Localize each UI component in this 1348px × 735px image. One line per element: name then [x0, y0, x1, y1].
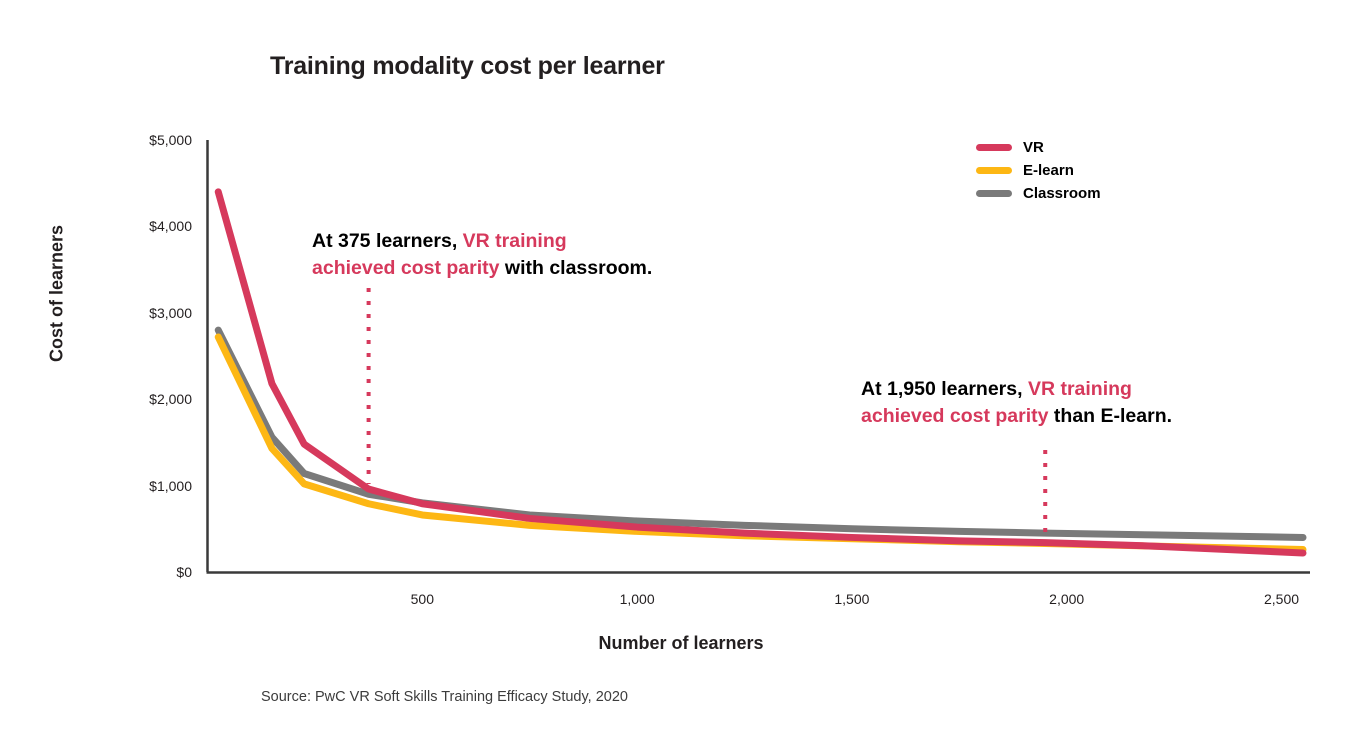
annotation-parity-classroom-line2: achieved cost parity with classroom.	[312, 255, 652, 282]
annotation-parity-elearn-line2: achieved cost parity than E-learn.	[861, 403, 1172, 430]
legend-item-elearn[interactable]: E-learn	[976, 159, 1101, 182]
legend-label-elearn: E-learn	[1023, 162, 1074, 179]
legend-item-vr[interactable]: VR	[976, 136, 1101, 159]
legend-swatch-vr	[976, 144, 1012, 151]
legend-swatch-classroom	[976, 190, 1012, 197]
x-tick-label: 2,500	[1264, 591, 1299, 607]
y-tick-label: $3,000	[120, 305, 192, 321]
annotation-1-highlight2: achieved cost parity	[312, 257, 500, 279]
y-tick-label: $5,000	[120, 132, 192, 148]
annotation-2-highlight: VR training	[1028, 378, 1132, 400]
x-tick-label: 500	[411, 591, 434, 607]
plot-area	[0, 0, 1348, 735]
legend-label-vr: VR	[1023, 139, 1044, 156]
annotation-2-tail: than E-learn.	[1049, 405, 1173, 427]
x-tick-label: 1,500	[834, 591, 869, 607]
source-note: Source: PwC VR Soft Skills Training Effi…	[261, 689, 628, 705]
y-tick-label: $4,000	[120, 218, 192, 234]
annotation-parity-classroom-line1: At 375 learners, VR training	[312, 228, 652, 255]
legend-label-classroom: Classroom	[1023, 185, 1101, 202]
series-line-elearn	[218, 337, 1303, 550]
x-tick-label: 1,000	[620, 591, 655, 607]
annotation-parity-elearn: At 1,950 learners, VR training achieved …	[861, 376, 1172, 430]
annotation-1-lead: At 375 learners,	[312, 230, 463, 252]
annotation-1-highlight: VR training	[463, 230, 567, 252]
annotation-1-tail: with classroom.	[500, 257, 653, 279]
y-tick-label: $1,000	[120, 478, 192, 494]
chart-legend: VR E-learn Classroom	[976, 136, 1101, 205]
annotation-parity-elearn-line1: At 1,950 learners, VR training	[861, 376, 1172, 403]
annotation-2-lead: At 1,950 learners,	[861, 378, 1028, 400]
y-tick-label: $0	[120, 564, 192, 580]
annotation-2-highlight2: achieved cost parity	[861, 405, 1049, 427]
y-tick-label: $2,000	[120, 391, 192, 407]
chart-canvas: Training modality cost per learner Cost …	[0, 0, 1348, 735]
legend-swatch-elearn	[976, 167, 1012, 174]
x-tick-label: 2,000	[1049, 591, 1084, 607]
legend-item-classroom[interactable]: Classroom	[976, 182, 1101, 205]
annotation-parity-classroom: At 375 learners, VR training achieved co…	[312, 228, 652, 282]
